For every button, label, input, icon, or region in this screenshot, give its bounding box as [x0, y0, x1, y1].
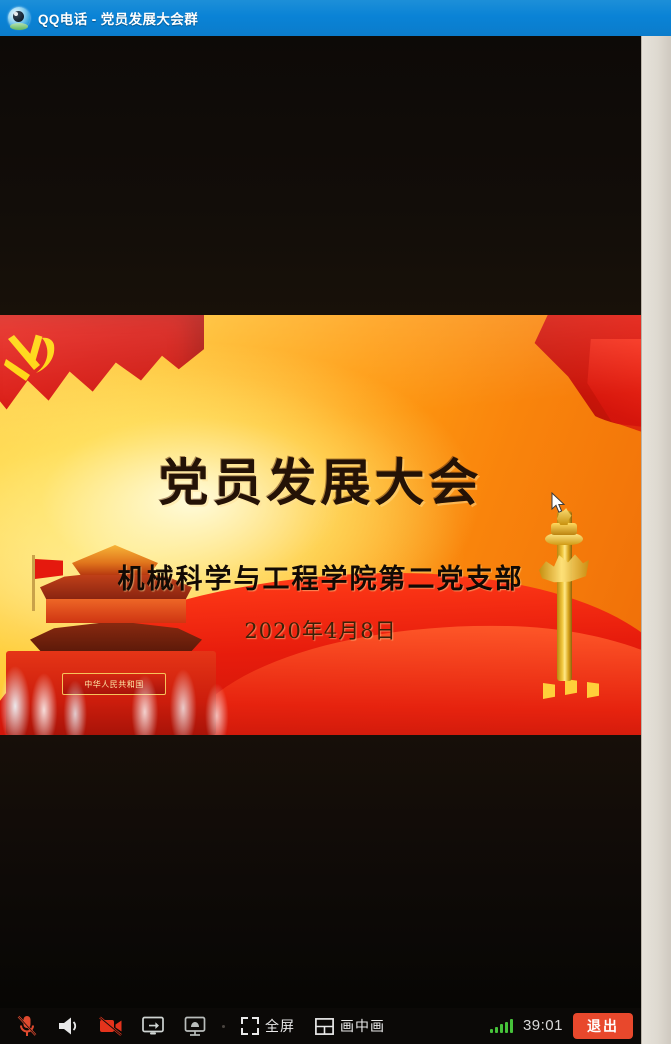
video-stage[interactable]: 中华人民共和国 党员: [0, 36, 641, 1008]
speaker-icon[interactable]: [48, 1008, 90, 1044]
hammer-sickle-icon: [0, 329, 62, 387]
call-timer: 39:01: [523, 1017, 563, 1034]
qq-call-window: QQ电话 - 党员发展大会群: [0, 0, 671, 1044]
party-flag: [0, 315, 204, 423]
qq-penguin-icon: [8, 7, 30, 29]
stage-letterbox-bottom: [0, 735, 641, 1008]
right-letterbox-strip: [641, 36, 671, 1044]
fullscreen-button[interactable]: 全屏: [231, 1008, 305, 1044]
slide-title: 党员发展大会: [0, 443, 641, 515]
stage-letterbox-top: [0, 36, 641, 315]
slide-date: 2020年4月8日: [0, 615, 641, 645]
picture-in-picture-button[interactable]: 画中画: [305, 1008, 395, 1044]
picture-in-picture-icon: [315, 1018, 334, 1035]
gate-plaque: 中华人民共和国: [62, 673, 166, 695]
camera-muted-icon[interactable]: [90, 1008, 132, 1044]
slide-subtitle: 机械科学与工程学院第二党支部: [0, 557, 641, 596]
screen-share-icon[interactable]: [132, 1008, 174, 1044]
toolbar-separator-dot: [222, 1025, 225, 1028]
microphone-muted-icon[interactable]: [6, 1008, 48, 1044]
fullscreen-icon: [241, 1017, 259, 1035]
pip-label: 画中画: [340, 1016, 385, 1036]
toolbar-left-group: 全屏 画中画: [0, 1008, 395, 1044]
window-titlebar: QQ电话 - 党员发展大会群: [0, 0, 671, 36]
exit-button[interactable]: 退出: [573, 1013, 633, 1040]
call-toolbar: 全屏 画中画 39:01 退出: [0, 1008, 641, 1044]
shared-slide: 中华人民共和国 党员: [0, 315, 641, 735]
toolbar-right-group: 39:01 退出: [490, 1013, 641, 1040]
window-title: QQ电话 - 党员发展大会群: [38, 8, 198, 28]
signal-strength-icon: [490, 1019, 513, 1033]
whiteboard-icon[interactable]: [174, 1008, 216, 1044]
fullscreen-label: 全屏: [265, 1016, 295, 1036]
mouse-cursor: [551, 492, 567, 514]
